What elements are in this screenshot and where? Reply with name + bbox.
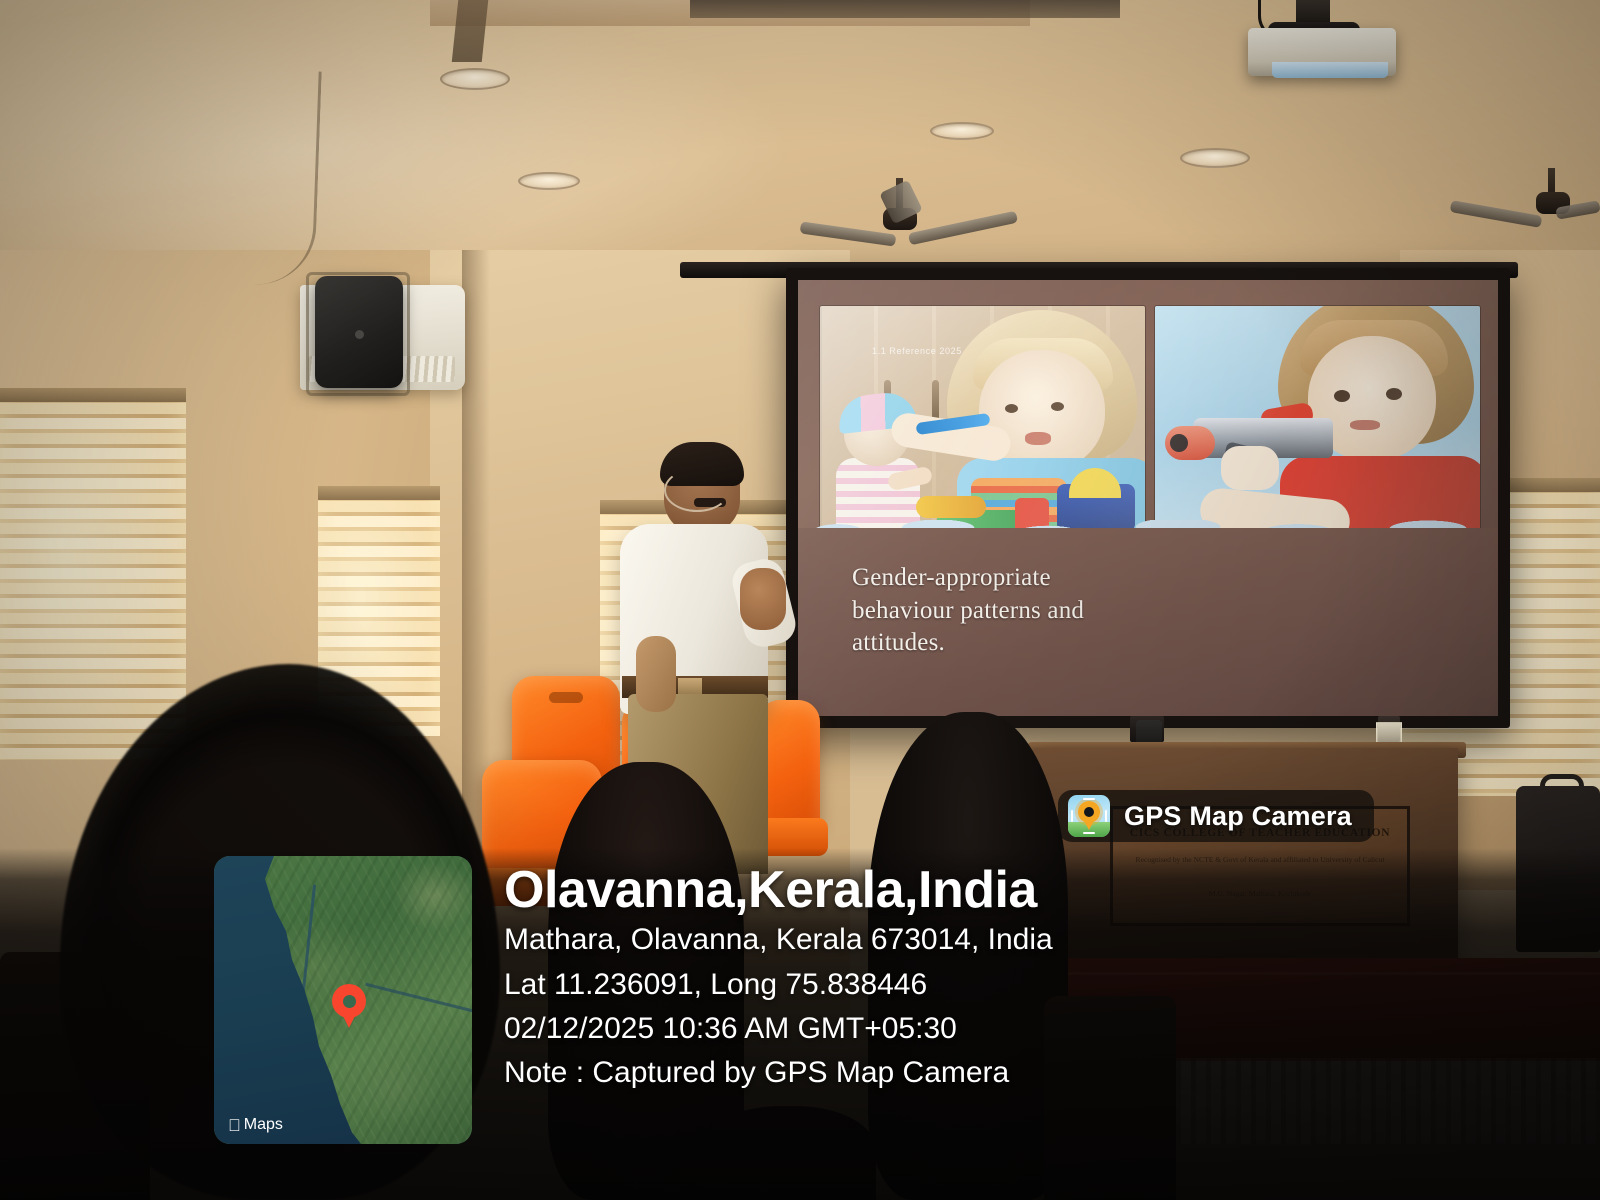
wall-cable bbox=[228, 69, 321, 287]
map-attribution:  Maps bbox=[228, 1116, 283, 1134]
ceiling-edge-trim bbox=[690, 0, 1120, 18]
map-thumbnail[interactable]:  Maps bbox=[214, 856, 472, 1144]
slide-image-toy-gun bbox=[1155, 306, 1480, 538]
slide-images: 1.1 Reference 2025 bbox=[798, 280, 1498, 538]
slide-caption-line: behaviour patterns and bbox=[852, 595, 1498, 628]
slide-caption-line: attitudes. bbox=[852, 627, 1498, 660]
gps-timestamp: 02/12/2025 10:36 AM GMT+05:30 bbox=[504, 1007, 1594, 1051]
gps-map-camera-label: GPS Map Camera bbox=[1124, 801, 1352, 832]
slide-caption-line: Gender-appropriate bbox=[852, 562, 1498, 595]
screenshot-root: 1.1 Reference 2025 bbox=[0, 0, 1600, 1200]
presenter-hand bbox=[740, 568, 786, 630]
gps-map-camera-app-icon bbox=[1068, 795, 1110, 837]
map-provider-label: Maps bbox=[244, 1116, 283, 1134]
projection-screen: 1.1 Reference 2025 bbox=[798, 280, 1498, 716]
zebra-window-blinds bbox=[0, 388, 186, 760]
gps-place-title: Olavanna,Kerala,India bbox=[504, 862, 1594, 918]
slide-caption: Gender-appropriate behaviour patterns an… bbox=[798, 528, 1498, 716]
recessed-downlight bbox=[440, 68, 510, 90]
recessed-downlight bbox=[930, 122, 994, 140]
wall-speaker bbox=[315, 276, 403, 388]
gps-note: Note : Captured by GPS Map Camera bbox=[504, 1051, 1594, 1095]
gps-address: Mathara, Olavanna, Kerala 673014, India bbox=[504, 918, 1594, 962]
apple-logo-icon:  bbox=[228, 1117, 241, 1134]
gps-coordinates: Lat 11.236091, Long 75.838446 bbox=[504, 963, 1594, 1007]
location-pin-icon bbox=[332, 984, 366, 1018]
slide-image-doll-play: 1.1 Reference 2025 bbox=[820, 306, 1145, 538]
recessed-downlight bbox=[518, 172, 580, 190]
gps-map-camera-badge: GPS Map Camera bbox=[1058, 790, 1374, 842]
gps-text-block: Olavanna,Kerala,India Mathara, Olavanna,… bbox=[504, 862, 1594, 1096]
recessed-downlight bbox=[1180, 148, 1250, 168]
headset-microphone bbox=[664, 468, 730, 512]
